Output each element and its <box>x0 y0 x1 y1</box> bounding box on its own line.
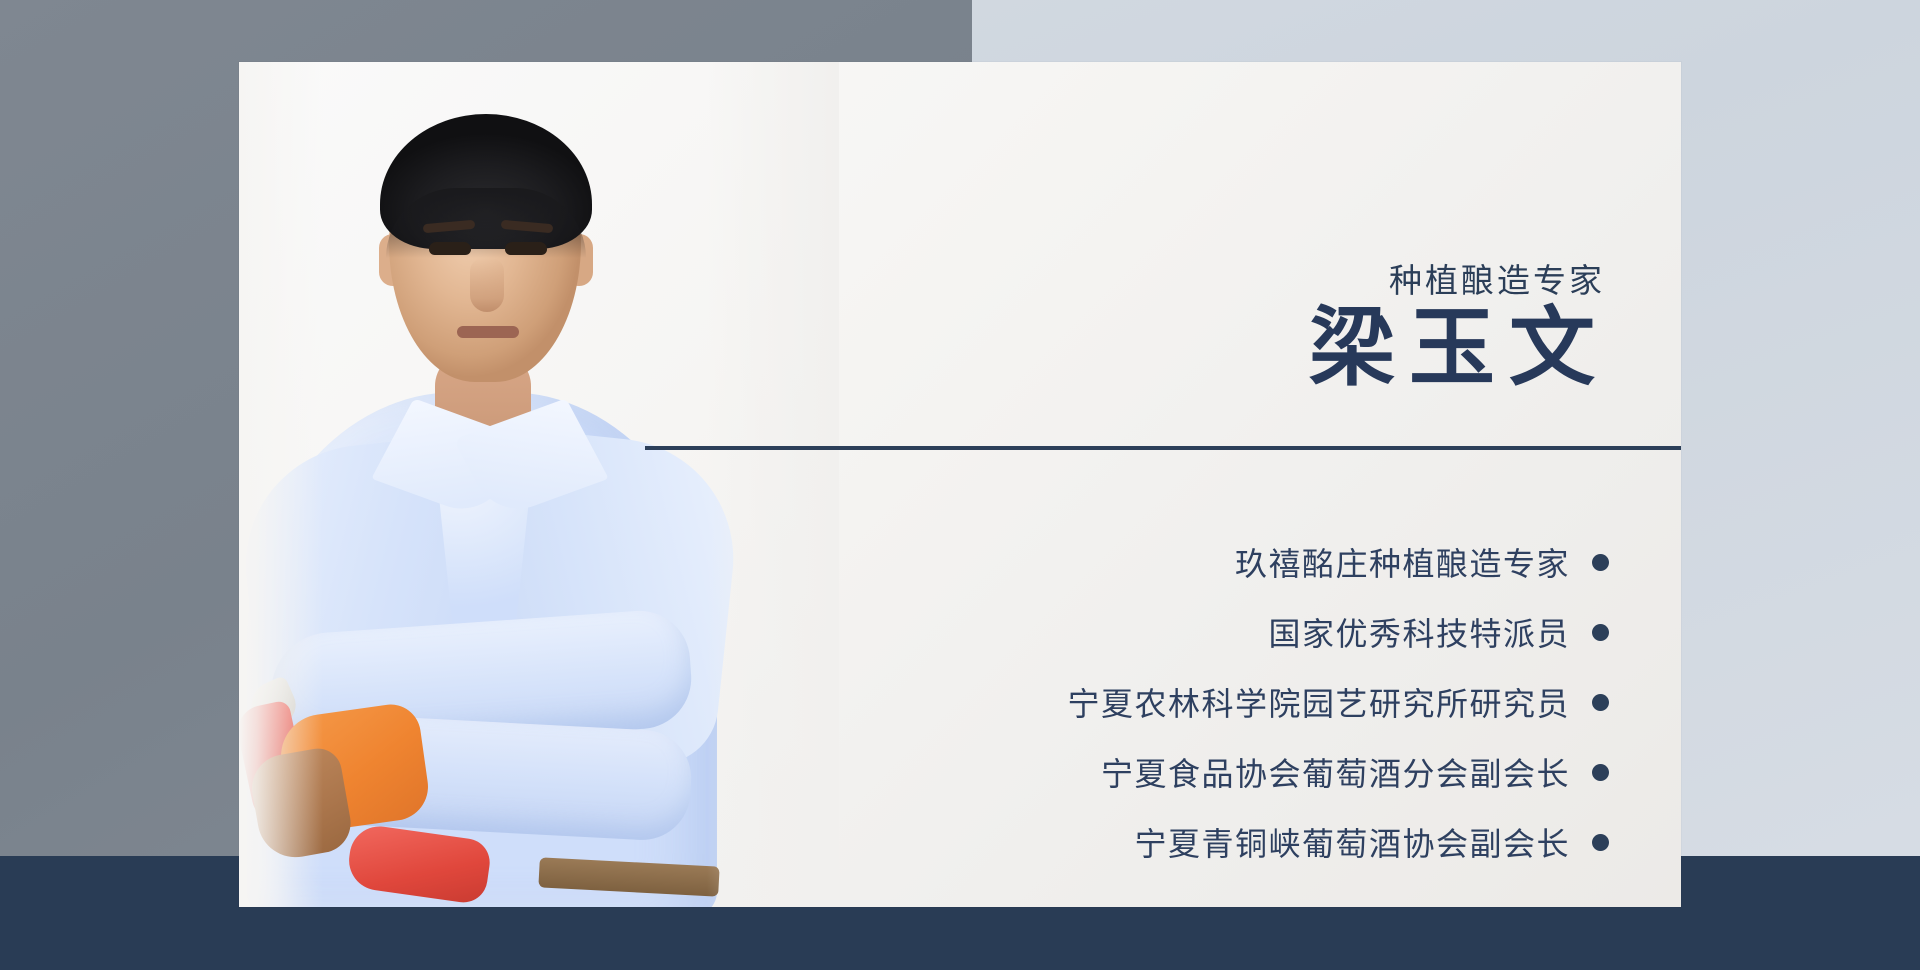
list-item: 国家优秀科技特派员 <box>1268 609 1609 655</box>
bullet-dot-icon <box>1592 694 1609 711</box>
bullet-dot-icon <box>1592 554 1609 571</box>
credentials-list: 玖禧酩庄种植酿造专家 国家优秀科技特派员 宁夏农林科学院园艺研究所研究员 宁夏食… <box>1067 539 1609 865</box>
expert-subtitle: 种植酿造专家 <box>1389 254 1605 302</box>
list-item: 宁夏青铜峡葡萄酒协会副会长 <box>1134 819 1609 865</box>
list-item: 宁夏农林科学院园艺研究所研究员 <box>1067 679 1609 725</box>
mouth <box>457 326 519 338</box>
eye-right <box>505 242 547 255</box>
bullet-dot-icon <box>1592 834 1609 851</box>
nose <box>470 258 504 312</box>
person-name: 梁玉文 <box>1309 302 1609 395</box>
eye-left <box>429 242 471 255</box>
list-item: 宁夏食品协会葡萄酒分会副会长 <box>1101 749 1609 795</box>
hair <box>380 114 592 249</box>
horizontal-divider <box>645 446 1681 450</box>
list-item: 玖禧酩庄种植酿造专家 <box>1235 539 1609 585</box>
bullet-dot-icon <box>1592 764 1609 781</box>
credential-text: 宁夏农林科学院园艺研究所研究员 <box>1067 679 1570 725</box>
credential-text: 国家优秀科技特派员 <box>1268 609 1570 655</box>
credential-text: 宁夏食品协会葡萄酒分会副会长 <box>1101 749 1570 795</box>
credential-text: 玖禧酩庄种植酿造专家 <box>1235 539 1570 585</box>
profile-card: 种植酿造专家 梁玉文 玖禧酩庄种植酿造专家 国家优秀科技特派员 宁夏农林科学院园… <box>239 62 1681 907</box>
poster-canvas: 种植酿造专家 梁玉文 玖禧酩庄种植酿造专家 国家优秀科技特派员 宁夏农林科学院园… <box>0 0 1920 970</box>
bullet-dot-icon <box>1592 624 1609 641</box>
portrait-photo <box>239 62 839 907</box>
credential-text: 宁夏青铜峡葡萄酒协会副会长 <box>1134 819 1570 865</box>
